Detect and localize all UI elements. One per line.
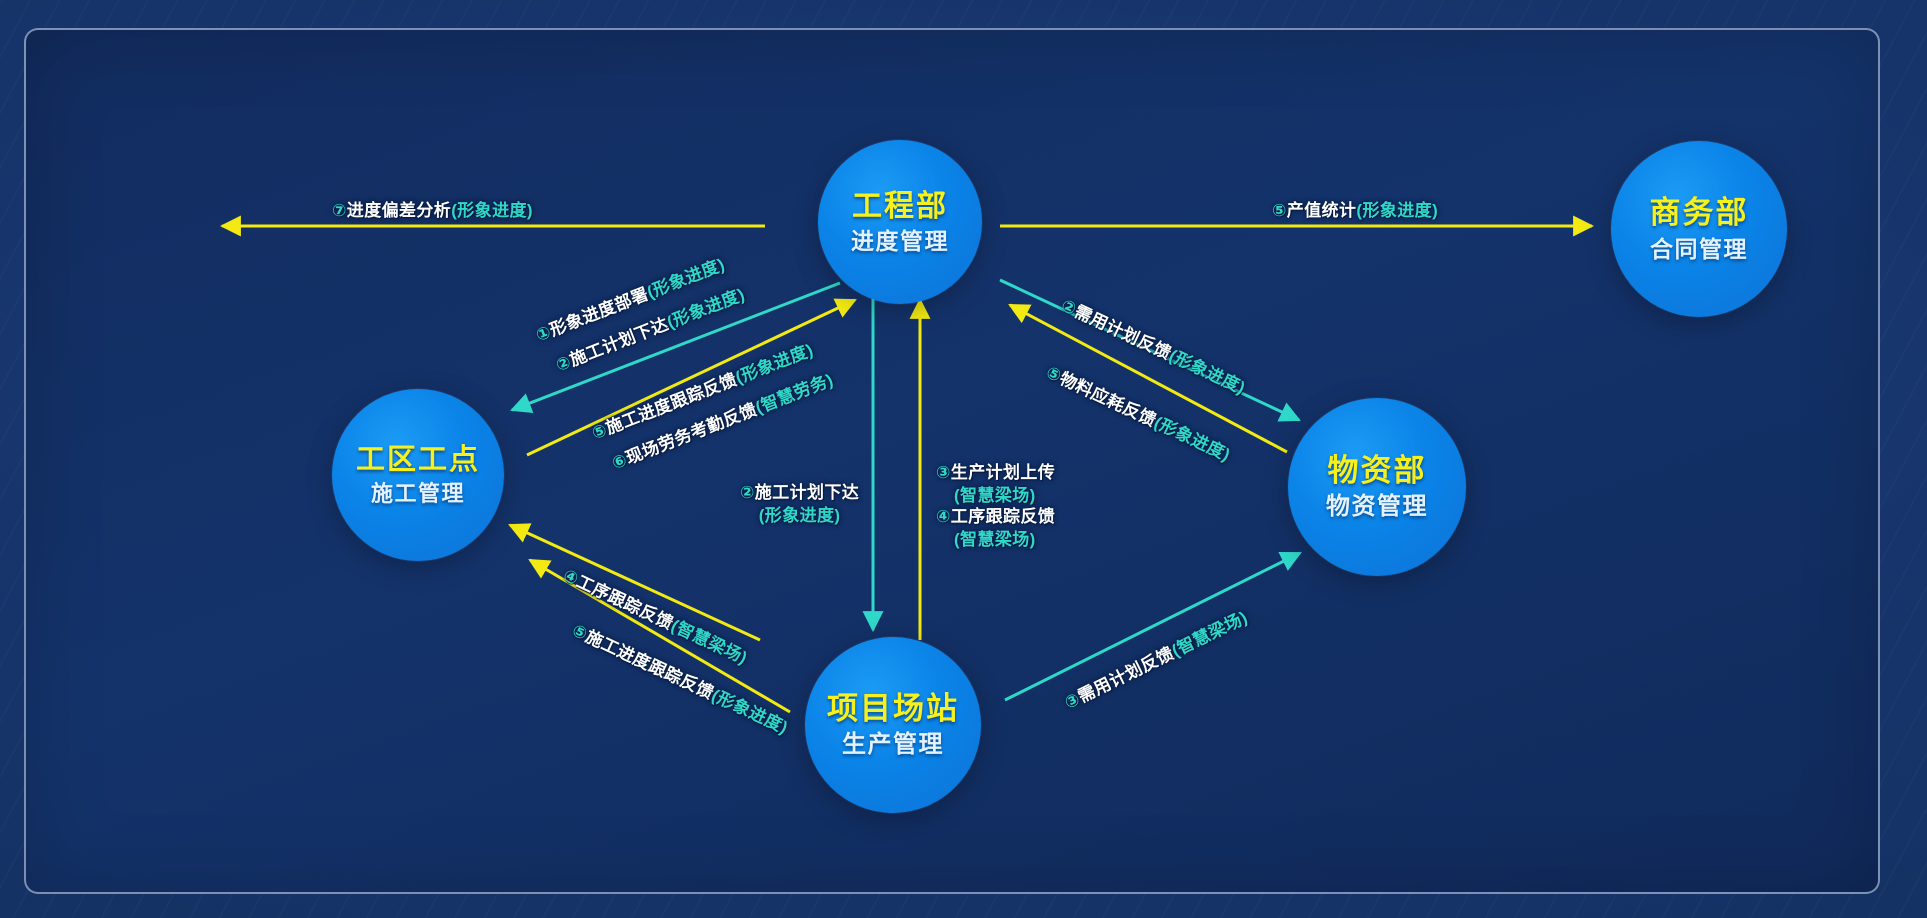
label-construction-plan-issue-mid-text: 施工计划下达: [755, 483, 859, 502]
label-output-statistics-num: ⑤: [1272, 201, 1287, 220]
node-materials[interactable]: 物资部 物资管理: [1288, 398, 1466, 576]
label-output-statistics: ⑤产值统计(形象进度): [1272, 196, 1438, 221]
label-production-plan-upload-sys: (智慧梁场): [954, 485, 1055, 508]
node-projectsite-subtitle: 生产管理: [842, 731, 944, 759]
label-output-statistics-sys: (形象进度): [1356, 201, 1438, 220]
label-progress-deviation-num: ⑦: [332, 201, 347, 220]
label-output-statistics-text: 产值统计: [1287, 201, 1357, 220]
label-process-tracking-feedback-mid: ④工序跟踪反馈 (智慧梁场): [936, 506, 1055, 552]
label-progress-deviation-text: 进度偏差分析: [347, 201, 451, 220]
node-engineering-subtitle: 进度管理: [851, 228, 949, 255]
node-projectsite[interactable]: 项目场站 生产管理: [805, 637, 981, 813]
label-production-plan-upload-text: 生产计划上传: [951, 463, 1055, 482]
node-engineering-title: 工程部: [852, 189, 948, 224]
node-business-subtitle: 合同管理: [1650, 236, 1748, 263]
diagram-canvas: 工程部 进度管理 商务部 合同管理 工区工点 施工管理 物资部 物资管理 项目场…: [0, 0, 1927, 918]
label-progress-deviation-sys: (形象进度): [451, 201, 533, 220]
label-construction-plan-issue-mid-sys: (形象进度): [740, 505, 859, 528]
node-engineering[interactable]: 工程部 进度管理: [818, 140, 982, 304]
node-worksite[interactable]: 工区工点 施工管理: [332, 389, 504, 561]
label-production-plan-upload-num: ③: [936, 463, 951, 482]
node-business-title: 商务部: [1650, 195, 1749, 232]
node-business[interactable]: 商务部 合同管理: [1611, 141, 1787, 317]
label-construction-plan-issue-mid-num: ②: [740, 483, 755, 502]
label-process-tracking-feedback-mid-sys: (智慧梁场): [954, 529, 1055, 552]
label-process-tracking-feedback-mid-text: 工序跟踪反馈: [951, 507, 1055, 526]
node-materials-subtitle: 物资管理: [1326, 493, 1428, 521]
label-construction-plan-issue-mid: ②施工计划下达 (形象进度): [740, 482, 859, 528]
node-projectsite-title: 项目场站: [827, 691, 959, 728]
node-materials-title: 物资部: [1328, 453, 1427, 490]
label-progress-deviation: ⑦进度偏差分析(形象进度): [332, 196, 533, 221]
node-worksite-title: 工区工点: [356, 443, 480, 477]
label-process-tracking-feedback-mid-num: ④: [936, 507, 951, 526]
label-production-plan-upload: ③生产计划上传 (智慧梁场): [936, 462, 1055, 508]
node-worksite-subtitle: 施工管理: [371, 481, 465, 507]
